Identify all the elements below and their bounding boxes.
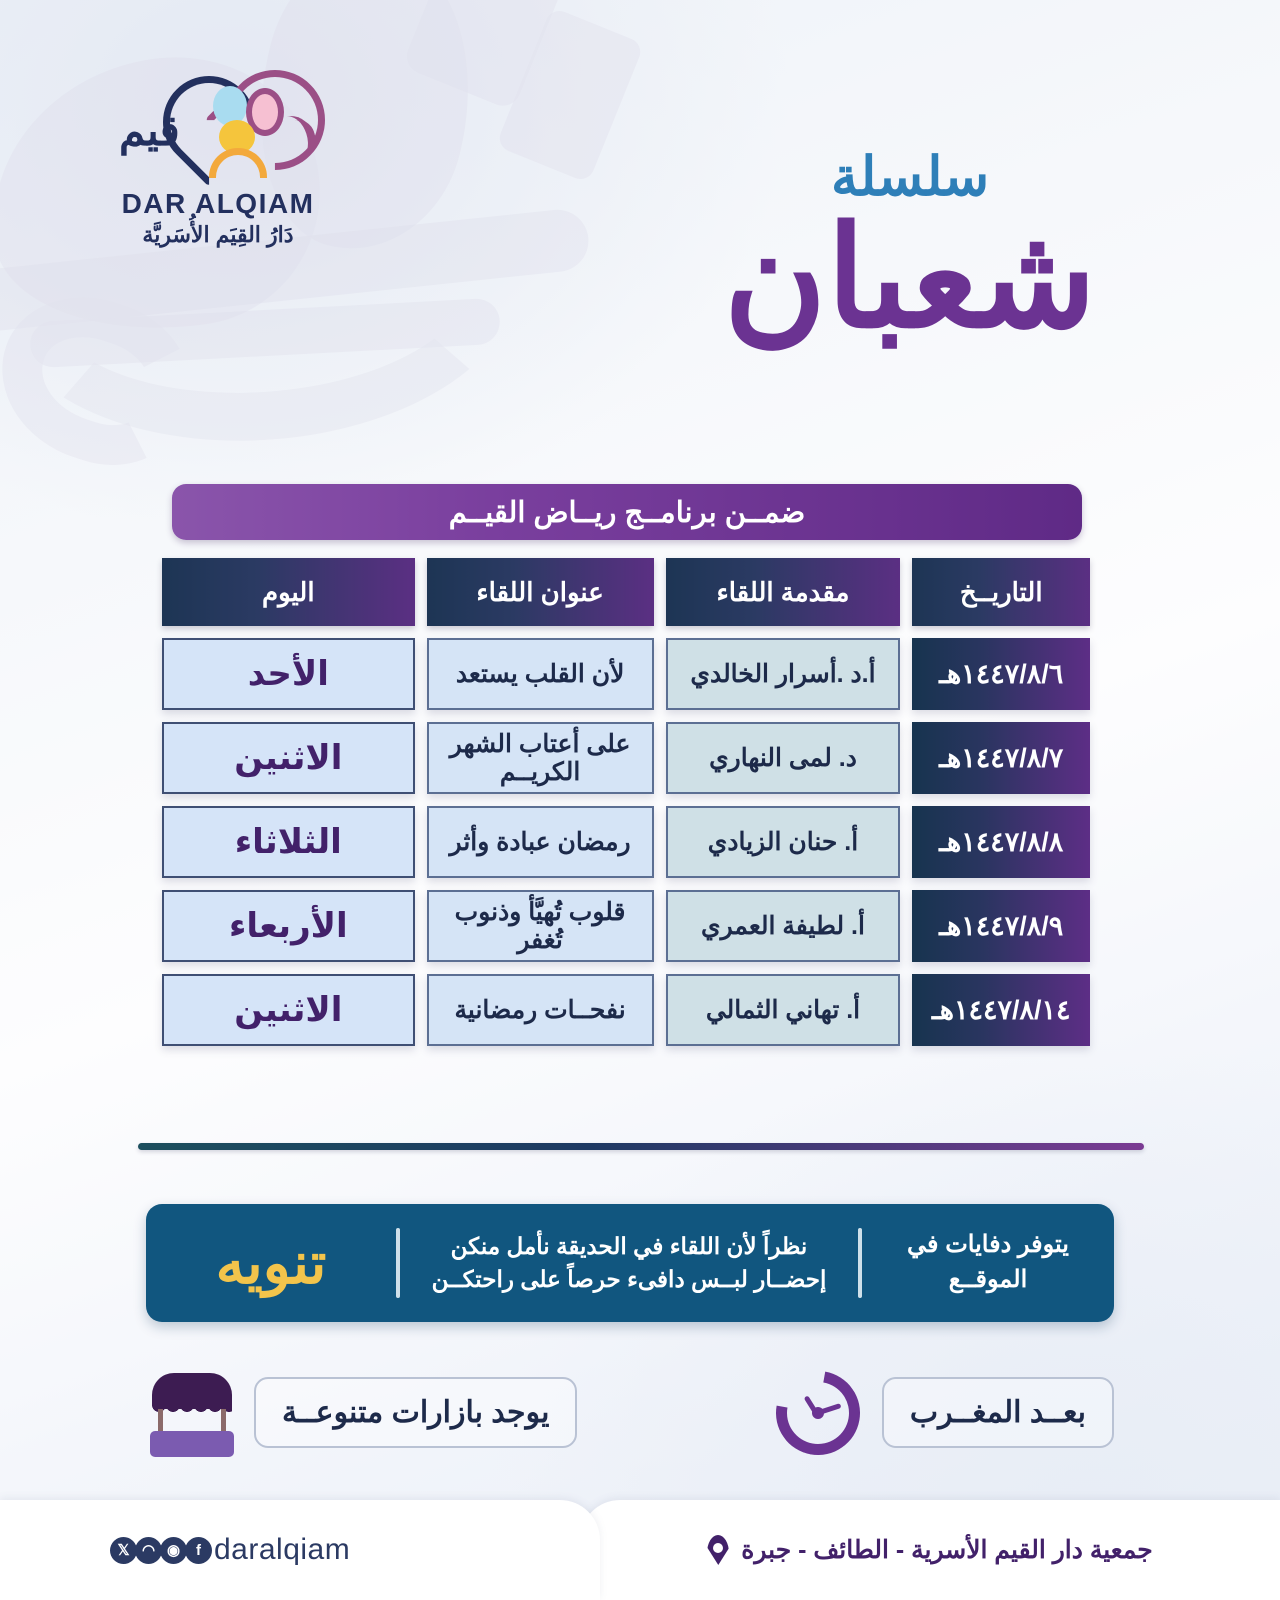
cell-title: على أعتاب الشهر الكريــم	[427, 722, 654, 794]
table-row: ١٤٤٧/٨/٧هـ د. لمى النهاري على أعتاب الشه…	[162, 722, 1090, 794]
facebook-icon[interactable]: f	[185, 1537, 212, 1564]
logo-arabic-script: قيم	[119, 106, 180, 155]
cell-day: الأحد	[162, 638, 415, 710]
social-handle: daralqiam	[214, 1533, 350, 1567]
cell-day: الاثنين	[162, 974, 415, 1046]
bazaar-stall-icon	[146, 1365, 238, 1461]
cell-title: نفحــات رمضانية	[427, 974, 654, 1046]
notice-separator	[396, 1228, 400, 1298]
footer-social-panel: 𝕏 ◠ ◉ f daralqiam	[0, 1500, 600, 1600]
poster-title: سلسلة شعبان	[680, 150, 1140, 357]
cell-date: ١٤٤٧/٨/٧هـ	[912, 722, 1090, 794]
brand-name-ar: دَارُ القِيَم الأُسَريَّة	[68, 222, 368, 248]
table-row: ١٤٤٧/٨/٦هـ أ.د .أسرار الخالدي لأن القلب …	[162, 638, 1090, 710]
notice-side-text: يتوفر دفايات في الموقــع	[862, 1228, 1114, 1298]
footer-address: جمعية دار القيم الأسرية - الطائف - جبرة	[741, 1535, 1152, 1565]
cell-presenter: أ. لطيفة العمري	[666, 890, 901, 962]
chip-bazaar: يوجد بازارات متنوعــة	[146, 1365, 577, 1461]
cell-presenter: أ. حنان الزيادي	[666, 806, 901, 878]
title-subtitle: سلسلة	[680, 150, 1140, 204]
schedule-table: التاريــخ مقدمة اللقاء عنوان اللقاء اليو…	[162, 558, 1090, 1058]
cell-date: ١٤٤٧/٨/٨هـ	[912, 806, 1090, 878]
logo-mark-icon: قيم	[113, 62, 323, 182]
cell-title: لأن القلب يستعد	[427, 638, 654, 710]
chip-time: بعــد المغــرب	[770, 1365, 1114, 1461]
cell-date: ١٤٤٧/٨/٦هـ	[912, 638, 1090, 710]
clock-icon	[770, 1365, 866, 1461]
cell-date: ١٤٤٧/٨/١٤هـ	[912, 974, 1090, 1046]
snapchat-icon[interactable]: ◠	[135, 1537, 162, 1564]
table-row: ١٤٤٧/٨/٩هـ أ. لطيفة العمري قلوب تُهيَّأ …	[162, 890, 1090, 962]
chip-time-label: بعــد المغــرب	[882, 1377, 1114, 1448]
cell-presenter: د. لمى النهاري	[666, 722, 901, 794]
cell-title: قلوب تُهيَّأ وذنوب تُغفر	[427, 890, 654, 962]
table-row: ١٤٤٧/٨/٨هـ أ. حنان الزيادي رمضان عبادة و…	[162, 806, 1090, 878]
header-date: التاريــخ	[912, 558, 1090, 626]
x-twitter-icon[interactable]: 𝕏	[110, 1537, 137, 1564]
notice-banner: يتوفر دفايات في الموقــع نظراً لأن اللقا…	[146, 1204, 1114, 1322]
cell-day: الثلاثاء	[162, 806, 415, 878]
cell-day: الأربعاء	[162, 890, 415, 962]
header-title: عنوان اللقاء	[427, 558, 654, 626]
header-day: اليوم	[162, 558, 415, 626]
organization-logo: قيم DAR ALQIAM دَارُ القِيَم الأُسَريَّة	[68, 62, 368, 248]
table-row: ١٤٤٧/٨/١٤هـ أ. تهاني الثمالي نفحــات رمض…	[162, 974, 1090, 1046]
cell-title: رمضان عبادة وأثر	[427, 806, 654, 878]
notice-label: تنويه	[146, 1229, 396, 1297]
cell-presenter: أ.د .أسرار الخالدي	[666, 638, 901, 710]
social-icons: 𝕏 ◠ ◉ f	[110, 1537, 210, 1564]
notice-main-text: نظراً لأن اللقاء في الحديقة نأمل منكن إح…	[400, 1230, 858, 1295]
table-header-row: التاريــخ مقدمة اللقاء عنوان اللقاء اليو…	[162, 558, 1090, 626]
location-pin-icon	[707, 1535, 729, 1565]
header-presenter: مقدمة اللقاء	[666, 558, 901, 626]
notice-separator	[858, 1228, 862, 1298]
chip-bazaar-label: يوجد بازارات متنوعــة	[254, 1377, 577, 1448]
cell-presenter: أ. تهاني الثمالي	[666, 974, 901, 1046]
info-chips: بعــد المغــرب يوجد بازارات متنوعــة	[146, 1340, 1114, 1485]
event-poster: قيم DAR ALQIAM دَارُ القِيَم الأُسَريَّة…	[0, 0, 1280, 1600]
brand-name-en: DAR ALQIAM	[68, 188, 368, 220]
instagram-icon[interactable]: ◉	[160, 1537, 187, 1564]
footer-address-panel: جمعية دار القيم الأسرية - الطائف - جبرة	[580, 1500, 1280, 1600]
section-divider	[138, 1143, 1144, 1150]
program-banner: ضمــن برنامــج ريــاض القيــم	[172, 484, 1082, 540]
title-main: شعبان	[680, 200, 1140, 357]
cell-date: ١٤٤٧/٨/٩هـ	[912, 890, 1090, 962]
cell-day: الاثنين	[162, 722, 415, 794]
